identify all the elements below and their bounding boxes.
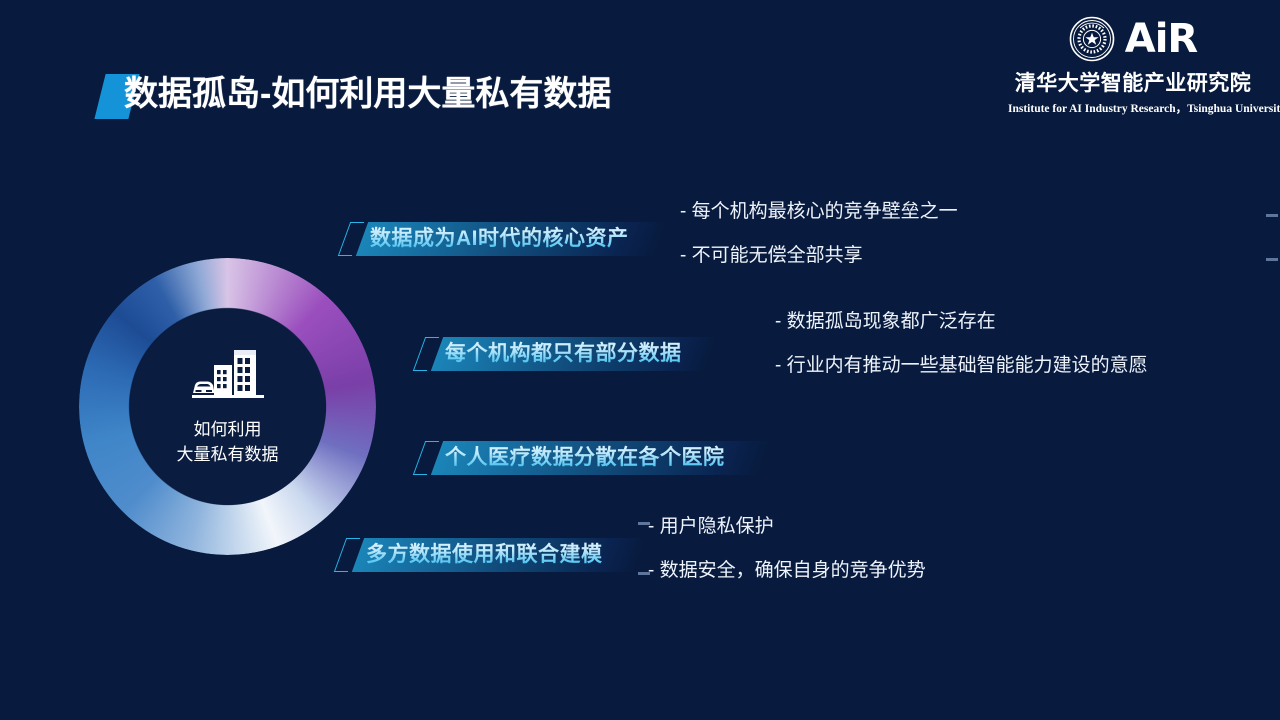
logo-top-row: AiR <box>1008 14 1258 64</box>
page-title: 数据孤岛-如何利用大量私有数据 <box>124 68 611 120</box>
banner-label: 每个机构都只有部分数据 <box>445 337 682 371</box>
edge-tick-mark <box>638 572 650 575</box>
bullet-item: - 数据安全，确保自身的竞争优势 <box>648 549 926 593</box>
circle-diagram: 如何利用 大量私有数据 <box>79 258 376 555</box>
banner-label: 个人医疗数据分散在各个医院 <box>445 441 725 475</box>
tsinghua-seal-icon <box>1069 16 1115 62</box>
bullet-item: - 数据孤岛现象都广泛存在 <box>775 300 1148 344</box>
bullets-joint-modeling: - 用户隐私保护 - 数据安全，确保自身的竞争优势 <box>648 505 926 593</box>
air-logo: AiR 清华大学智能产业研究院 Institute for AI Industr… <box>1008 14 1258 116</box>
banner-medical-data[interactable]: 个人医疗数据分散在各个医院 <box>419 441 764 475</box>
banner-partial-data[interactable]: 每个机构都只有部分数据 <box>419 337 711 371</box>
edge-tick-mark <box>638 522 650 525</box>
edge-tick-mark <box>1266 214 1278 217</box>
edge-tick-mark <box>1266 258 1278 261</box>
bullet-item: - 行业内有推动一些基础智能能力建设的意愿 <box>775 344 1148 388</box>
banner-data-asset[interactable]: 数据成为AI时代的核心资产 <box>344 222 660 256</box>
bullet-item: - 用户隐私保护 <box>648 505 926 549</box>
logo-chinese-name: 清华大学智能产业研究院 <box>1008 67 1258 97</box>
bullet-item: - 不可能无偿全部共享 <box>680 234 958 278</box>
slide-canvas: 数据孤岛-如何利用大量私有数据 AiR 清华大学智能产业研究院 Institut… <box>0 0 1280 720</box>
banner-label: 多方数据使用和联合建模 <box>366 538 603 572</box>
circle-center: 如何利用 大量私有数据 <box>130 309 326 505</box>
air-wordmark: AiR <box>1125 17 1197 61</box>
banner-joint-modeling[interactable]: 多方数据使用和联合建模 <box>340 538 640 572</box>
logo-english-name: Institute for AI Industry Research，Tsing… <box>1008 100 1258 116</box>
bullets-data-asset: - 每个机构最核心的竞争壁垒之一 - 不可能无偿全部共享 <box>680 190 958 278</box>
banner-label: 数据成为AI时代的核心资产 <box>370 222 629 256</box>
city-car-icon <box>190 346 266 417</box>
bullet-item: - 每个机构最核心的竞争壁垒之一 <box>680 190 958 234</box>
bullets-partial-data: - 数据孤岛现象都广泛存在 - 行业内有推动一些基础智能能力建设的意愿 <box>775 300 1148 388</box>
circle-label: 如何利用 大量私有数据 <box>177 417 279 467</box>
